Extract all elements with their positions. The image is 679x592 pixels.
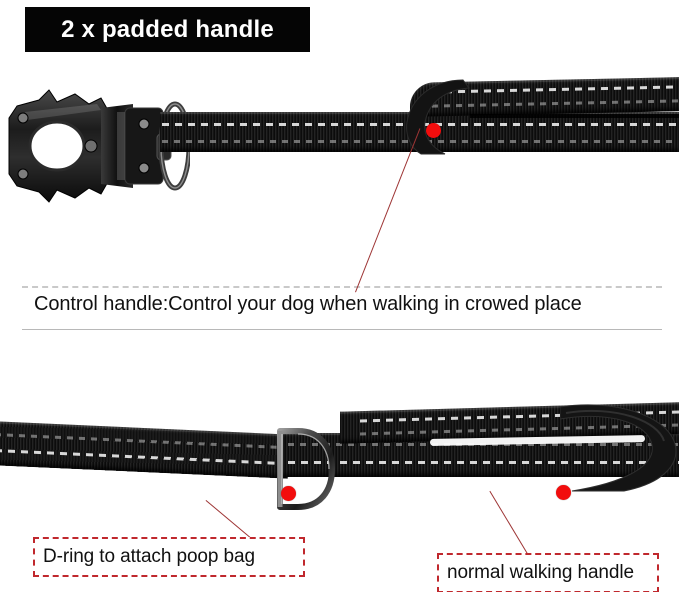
label-d-ring-text: D-ring to attach poop bag bbox=[35, 546, 255, 568]
leash-strap-left-segment bbox=[0, 421, 290, 479]
label-normal-handle-text: normal walking handle bbox=[439, 562, 634, 584]
product-photo-bottom-leash bbox=[0, 385, 679, 520]
marker-dot-normal-handle bbox=[556, 485, 571, 500]
caption-rule-bottom bbox=[22, 329, 662, 330]
product-photo-top-leash bbox=[0, 62, 679, 267]
d-ring-icon bbox=[268, 425, 338, 515]
handle-fold bbox=[385, 76, 475, 166]
handle-loop-gap bbox=[470, 114, 679, 118]
marker-dot-d-ring bbox=[281, 486, 296, 501]
top-banner: 2 x padded handle bbox=[25, 7, 310, 52]
label-box-d-ring: D-ring to attach poop bag bbox=[33, 537, 305, 577]
top-banner-label: 2 x padded handle bbox=[61, 16, 274, 44]
marker-dot-control-handle bbox=[426, 123, 441, 138]
caption-dashed-rule-top bbox=[22, 286, 662, 288]
caption-text: Control handle:Control your dog when wal… bbox=[34, 293, 582, 316]
caption-control-handle: Control handle:Control your dog when wal… bbox=[22, 286, 662, 330]
label-box-normal-handle: normal walking handle bbox=[437, 553, 659, 592]
product-infographic: 2 x padded handle bbox=[0, 0, 679, 592]
walking-handle-loop-fold bbox=[560, 397, 679, 507]
